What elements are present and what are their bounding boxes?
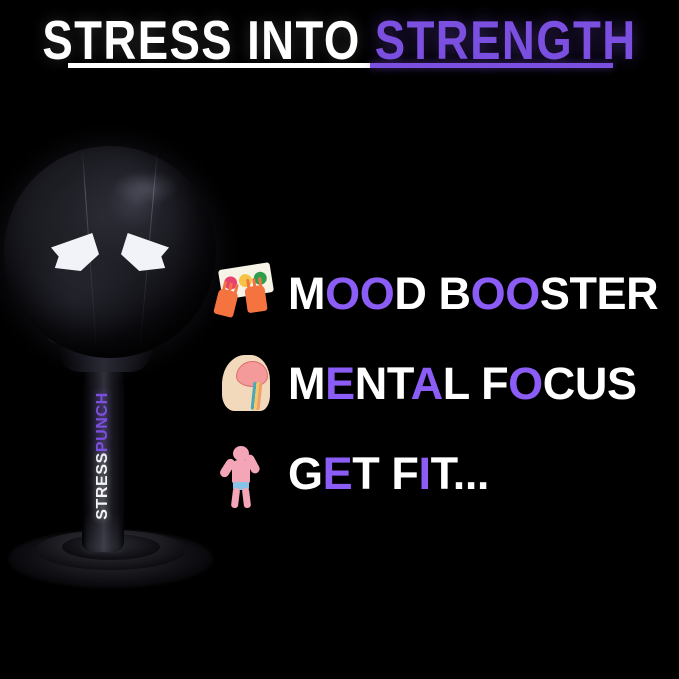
list-item: GET FIT... [214, 428, 679, 518]
page-title: STRESS INTO STRENGTH [42, 14, 636, 70]
mood-survey-card-icon [214, 260, 280, 326]
label-segment: CUS [543, 358, 637, 409]
head-with-brain-icon [214, 350, 280, 416]
brand-logo-stress: STRESS [94, 452, 111, 520]
list-item: MOOD BOOSTER [214, 248, 679, 338]
product-image: STRESSPUNCH [0, 130, 225, 600]
bodybuilder-torso [232, 460, 250, 484]
bodybuilder-leg-right [242, 488, 251, 509]
label-segment: STER [540, 268, 658, 319]
flexing-bodybuilder-icon [214, 440, 280, 506]
label-segment: T F [352, 448, 418, 499]
punching-ball-icon [4, 146, 216, 358]
benefit-label: MENTAL FOCUS [288, 361, 637, 406]
ball-highlight [114, 171, 178, 205]
brand-logo-punch: PUNCH [94, 392, 111, 452]
headline-wrap: STRESS INTO STRENGTH [0, 14, 679, 64]
label-segment: L F [443, 358, 508, 409]
benefit-label: GET FIT... [288, 451, 489, 496]
promo-poster: STRESS INTO STRENGTH STRESSPUNCH [0, 0, 679, 679]
angry-eyes-icon [51, 229, 169, 275]
underline-purple-segment [370, 63, 613, 68]
label-segment: OO [325, 268, 394, 319]
eye-right-icon [121, 233, 169, 271]
list-item: MENTAL FOCUS [214, 338, 679, 428]
label-segment: O [508, 358, 543, 409]
label-segment: OO [471, 268, 540, 319]
label-segment: G [288, 448, 323, 499]
label-segment: T... [431, 448, 489, 499]
label-segment: I [419, 448, 431, 499]
underline-white-segment [68, 63, 370, 68]
headline-underline [68, 63, 613, 68]
benefit-label: MOOD BOOSTER [288, 271, 658, 316]
brand-logo: STRESSPUNCH [84, 373, 122, 538]
label-segment: E [323, 448, 353, 499]
label-segment: E [325, 358, 355, 409]
label-segment: D B [394, 268, 470, 319]
benefit-list: MOOD BOOSTER MENTAL FOCUS GET FIT... [214, 248, 679, 518]
hand-right [244, 285, 267, 314]
label-segment: M [288, 268, 325, 319]
label-segment: A [411, 358, 443, 409]
eye-left-icon [51, 233, 99, 271]
brand-logo-text: STRESSPUNCH [94, 392, 112, 520]
label-segment: NT [355, 358, 411, 409]
bodybuilder-leg-left [231, 488, 240, 509]
hand-left [213, 288, 239, 318]
label-segment: M [288, 358, 325, 409]
brain [236, 361, 268, 387]
